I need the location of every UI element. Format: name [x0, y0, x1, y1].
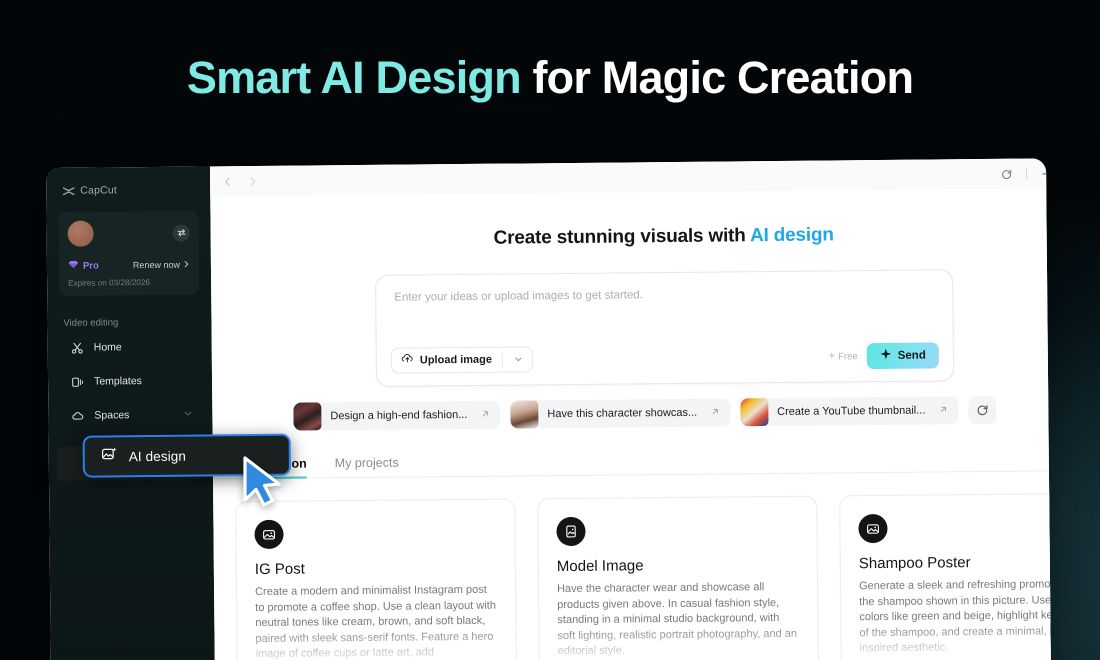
page-title-plain: Create stunning visuals with	[494, 225, 751, 248]
send-button[interactable]: Send	[867, 342, 939, 369]
suggestion-chip-label: Create a YouTube thumbnail...	[777, 405, 925, 418]
template-card[interactable]: Model Image Have the character wear and …	[537, 496, 819, 660]
upload-cloud-icon	[401, 351, 414, 369]
minimize-icon[interactable]	[1041, 168, 1051, 179]
portrait-thumbnail	[510, 400, 538, 428]
plan-expiry-label: Expires on 03/28/2026	[68, 278, 190, 288]
sparkle-icon	[880, 347, 892, 365]
suggestion-chip[interactable]: Design a high-end fashion...	[293, 401, 500, 431]
sidebar-section-label: Video editing	[47, 316, 211, 329]
free-credit-label: Free	[828, 351, 858, 362]
suggestion-chip-label: Design a high-end fashion...	[330, 409, 467, 422]
capcut-app-window: CapCut	[46, 158, 1051, 660]
arrow-up-right-icon	[480, 406, 490, 424]
arrow-up-right-icon	[710, 404, 720, 422]
prompt-actions: Free Send	[828, 342, 939, 369]
upload-image-label: Upload image	[420, 354, 492, 367]
brand-logo: CapCut	[46, 176, 210, 200]
sidebar-item-templates[interactable]: Templates	[56, 365, 204, 396]
suggestion-chip-label: Have this character showcas...	[547, 407, 697, 420]
chevron-down-icon[interactable]	[509, 350, 528, 368]
main-area: Create stunning visuals with AI design E…	[210, 158, 1051, 660]
template-card-description: Generate a sleek and refreshing promo po…	[859, 577, 1051, 657]
switch-account-icon[interactable]	[173, 224, 190, 241]
fashion-thumbnail	[293, 402, 321, 430]
arrow-up-right-icon	[938, 401, 948, 419]
suggestion-chip[interactable]: Create a YouTube thumbnail...	[740, 396, 958, 426]
tab-my-projects[interactable]: My projects	[335, 456, 399, 478]
template-card-title: IG Post	[255, 559, 497, 578]
content-scroll-area: Create stunning visuals with AI design E…	[210, 188, 1051, 660]
document-image-icon	[556, 517, 585, 546]
chevron-right-icon[interactable]	[247, 175, 258, 186]
brand-name: CapCut	[80, 184, 117, 196]
chevron-down-icon[interactable]	[183, 409, 192, 421]
cloud-icon	[70, 409, 84, 423]
send-label: Send	[898, 350, 926, 362]
prompt-footer: Upload image Free	[391, 342, 939, 373]
refresh-icon[interactable]	[1001, 168, 1012, 179]
suggestion-chip[interactable]: Have this character showcas...	[510, 398, 730, 428]
chevron-left-icon[interactable]	[222, 176, 233, 187]
image-upload-icon	[254, 520, 283, 549]
chevron-right-icon	[183, 260, 190, 270]
page-title: Create stunning visuals with AI design	[211, 222, 1052, 253]
renew-label: Renew now	[133, 260, 180, 270]
template-card-title: Shampoo Poster	[859, 553, 1051, 572]
pro-row: Pro Renew now	[68, 256, 190, 275]
app-window-wrapper: CapCut	[46, 158, 1051, 660]
sidebar-item-spaces[interactable]: Spaces	[56, 399, 204, 430]
account-top-row	[68, 220, 190, 247]
upload-button-divider	[502, 353, 503, 366]
navigation-arrows	[222, 175, 258, 186]
renew-now-link[interactable]: Renew now	[133, 260, 190, 271]
window-controls	[1001, 167, 1051, 179]
avatar[interactable]	[68, 221, 94, 247]
suggestion-chips: Design a high-end fashion... Have this c…	[285, 395, 1045, 430]
page-title-accent: AI design	[750, 224, 834, 246]
template-card-title: Model Image	[557, 556, 799, 575]
image-sparkle-icon	[101, 445, 118, 467]
pro-badge: Pro	[68, 256, 99, 274]
image-upload-icon	[858, 514, 887, 543]
templates-icon	[70, 375, 84, 389]
template-card-description: Have the character wear and showcase all…	[557, 580, 800, 660]
template-card[interactable]: Shampoo Poster Generate a sleek and refr…	[839, 493, 1051, 660]
headline-accent: Smart AI Design	[187, 52, 521, 103]
template-card[interactable]: IG Post Create a modern and minimalist I…	[235, 499, 517, 660]
scissors-icon	[70, 341, 84, 355]
titlebar-divider	[1026, 168, 1027, 179]
sidebar-item-label: Templates	[94, 375, 142, 387]
mouse-pointer-icon	[240, 455, 286, 516]
account-card[interactable]: Pro Renew now Expires on 03/28/2026	[58, 211, 199, 296]
capcut-logo-icon	[62, 185, 75, 196]
sidebar-item-home[interactable]: Home	[56, 331, 204, 362]
ai-design-callout-label: AI design	[129, 448, 186, 464]
diamond-icon	[68, 257, 79, 275]
pro-label: Pro	[83, 260, 99, 271]
headline-rest: for Magic Creation	[521, 52, 913, 103]
template-card-description: Create a modern and minimalist Instagram…	[255, 583, 498, 660]
page-headline: Smart AI Design for Magic Creation	[0, 52, 1100, 104]
refresh-suggestions-button[interactable]	[968, 396, 996, 424]
free-label: Free	[838, 351, 858, 362]
sidebar-item-label: Home	[94, 341, 122, 353]
upload-image-button[interactable]: Upload image	[391, 346, 533, 373]
sparkle-small-icon	[828, 351, 836, 362]
screenshot-root: Smart AI Design for Magic Creation CapCu…	[0, 0, 1100, 660]
sidebar: CapCut	[46, 166, 215, 660]
template-card-grid: IG Post Create a modern and minimalist I…	[213, 471, 1051, 660]
sidebar-item-label: Spaces	[94, 409, 129, 421]
prompt-input-box[interactable]: Enter your ideas or upload images to get…	[375, 269, 954, 387]
prompt-placeholder[interactable]: Enter your ideas or upload images to get…	[394, 286, 934, 303]
youtube-thumbnail	[740, 398, 768, 426]
